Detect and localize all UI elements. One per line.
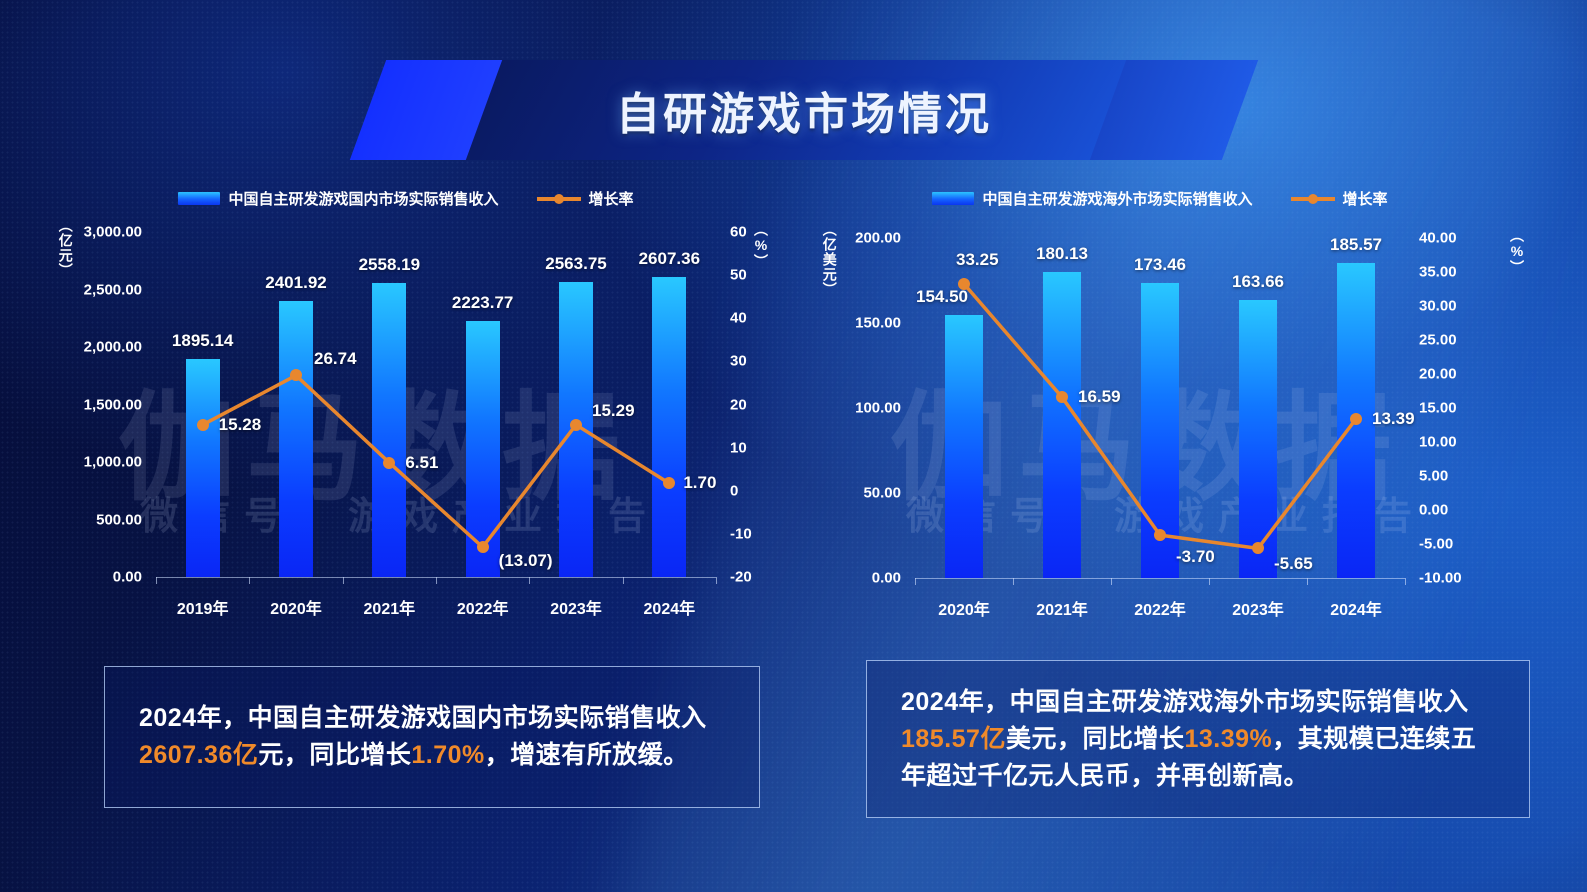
y-axis-tick-left: 2,500.00 (84, 281, 142, 298)
line-data-point[interactable] (197, 419, 209, 431)
line-data-point[interactable] (958, 278, 970, 290)
chart-panel-domestic: 中国自主研发游戏国内市场实际销售收入 增长率 （亿元） （%） 0.00500.… (46, 180, 766, 650)
line-value-label: 33.25 (956, 250, 999, 270)
line-value-label: 16.59 (1078, 387, 1121, 407)
x-axis-tickmark (249, 577, 250, 584)
y-axis-tick-left: 0.00 (872, 570, 901, 587)
y-axis-tick-right: 35.00 (1419, 264, 1457, 281)
legend-item-bar[interactable]: 中国自主研发游戏海外市场实际销售收入 (932, 188, 1252, 209)
x-axis-tick: 2023年 (550, 595, 602, 619)
line-data-point[interactable] (570, 419, 582, 431)
line-value-label: 26.74 (314, 349, 357, 369)
line-data-point[interactable] (1252, 542, 1264, 554)
summary-text: ，增速有所放缓。 (485, 741, 689, 769)
y-axis-tick-left: 200.00 (855, 230, 901, 247)
x-axis-tickmark (716, 577, 717, 584)
x-axis-tick: 2024年 (1330, 596, 1382, 620)
x-axis-tickmark (623, 577, 624, 584)
summary-line: 年超过千亿元人民币，并再创新高。 (901, 758, 1495, 795)
y-axis-tick-right: 20.00 (1419, 366, 1457, 383)
x-axis-tick: 2020年 (938, 596, 990, 620)
summary-highlight: 13.39% (1184, 725, 1272, 753)
legend-item-bar[interactable]: 中国自主研发游戏国内市场实际销售收入 (178, 188, 498, 209)
line-value-label: (13.07) (499, 551, 553, 571)
y-axis-tick-left: 150.00 (855, 315, 901, 332)
line-value-label: -3.70 (1176, 547, 1215, 567)
summary-text: 美元，同比增长 (1006, 725, 1185, 753)
y-axis-unit-right-overseas: （%） (1509, 228, 1524, 275)
line-data-point[interactable] (477, 541, 489, 553)
y-axis-tick-right: 10 (730, 439, 747, 456)
y-axis-tick-right: 40.00 (1419, 230, 1457, 247)
y-axis-tick-right: -10.00 (1419, 570, 1462, 587)
summary-highlight: 1.70% (411, 741, 484, 769)
y-axis-tick-right: 60 (730, 224, 747, 241)
x-axis-tickmark (156, 577, 157, 584)
summary-text: 元，同比增长 (258, 741, 411, 769)
x-axis-tickmark (1405, 578, 1406, 585)
title-banner: 自研游戏市场情况 (368, 60, 1240, 160)
y-axis-tick-right: -20 (730, 569, 752, 586)
y-axis-unit-right-domestic: （%） (753, 222, 768, 269)
y-axis-tick-left: 50.00 (863, 485, 901, 502)
line-swatch-icon (537, 193, 581, 205)
plot-area-domestic: 0.00500.001,000.001,500.002,000.002,500.… (156, 232, 716, 577)
y-axis-tick-left: 1,000.00 (84, 454, 142, 471)
line-data-point[interactable] (290, 369, 302, 381)
y-axis-tick-right: 0.00 (1419, 502, 1448, 519)
line-value-label: 15.28 (219, 415, 262, 435)
y-axis-tick-right: 40 (730, 310, 747, 327)
summary-line: 185.57亿美元，同比增长13.39%，其规模已连续五 (901, 721, 1495, 758)
legend-item-line[interactable]: 增长率 (537, 188, 634, 209)
plot-area-overseas: 0.0050.00100.00150.00200.00-10.00-5.000.… (915, 238, 1405, 578)
page-title: 自研游戏市场情况 (368, 60, 1240, 160)
y-axis-unit-left-domestic: （亿元） (58, 218, 73, 278)
legend-domestic: 中国自主研发游戏国内市场实际销售收入 增长率 (46, 188, 766, 209)
line-value-label: 1.70 (683, 473, 716, 493)
x-axis-line (915, 578, 1405, 579)
legend-item-line[interactable]: 增长率 (1291, 188, 1388, 209)
summary-text: 年超过千亿元人民币，并再创新高。 (901, 762, 1309, 790)
line-swatch-icon (1291, 193, 1335, 205)
x-axis-tick: 2023年 (1232, 596, 1284, 620)
y-axis-tick-right: 15.00 (1419, 400, 1457, 417)
line-value-label: 13.39 (1372, 409, 1415, 429)
bar-swatch-icon (932, 192, 974, 205)
x-axis-tick: 2020年 (270, 595, 322, 619)
legend-label-bar: 中国自主研发游戏国内市场实际销售收入 (228, 188, 498, 209)
legend-label-line: 增长率 (589, 188, 634, 209)
line-value-label: 15.29 (592, 401, 635, 421)
y-axis-tick-right: 0 (730, 482, 738, 499)
summary-line: 2024年，中国自主研发游戏海外市场实际销售收入 (901, 684, 1495, 721)
x-axis-tick: 2022年 (457, 595, 509, 619)
summary-text: ，其规模已连续五 (1272, 725, 1476, 753)
y-axis-tick-right: 50 (730, 267, 747, 284)
bar-swatch-icon (178, 192, 220, 205)
line-data-point[interactable] (1056, 391, 1068, 403)
legend-label-bar: 中国自主研发游戏海外市场实际销售收入 (982, 188, 1252, 209)
x-axis-tick: 2019年 (177, 595, 229, 619)
y-axis-tick-right: 30 (730, 353, 747, 370)
y-axis-tick-left: 500.00 (96, 511, 142, 528)
y-axis-tick-right: -10 (730, 525, 752, 542)
summary-line: 2607.36亿元，同比增长1.70%，增速有所放缓。 (139, 737, 725, 774)
x-axis-tick: 2021年 (364, 595, 416, 619)
legend-label-line: 增长率 (1343, 188, 1388, 209)
y-axis-tick-right: 5.00 (1419, 468, 1448, 485)
y-axis-tick-right: 25.00 (1419, 332, 1457, 349)
x-axis-tickmark (529, 577, 530, 584)
x-axis-tick: 2022年 (1134, 596, 1186, 620)
y-axis-tick-right: -5.00 (1419, 536, 1453, 553)
growth-rate-line (915, 238, 1405, 578)
line-data-point[interactable] (1154, 529, 1166, 541)
x-axis-tick: 2024年 (644, 595, 696, 619)
y-axis-tick-right: 10.00 (1419, 434, 1457, 451)
summary-line: 2024年，中国自主研发游戏国内市场实际销售收入 (139, 700, 725, 737)
line-data-point[interactable] (663, 477, 675, 489)
line-value-label: -5.65 (1274, 554, 1313, 574)
summary-text: 2024年，中国自主研发游戏海外市场实际销售收入 (901, 688, 1469, 716)
x-axis-tickmark (1111, 578, 1112, 585)
y-axis-tick-right: 20 (730, 396, 747, 413)
y-axis-tick-right: 30.00 (1419, 298, 1457, 315)
x-axis-tickmark (436, 577, 437, 584)
y-axis-tick-left: 0.00 (113, 569, 142, 586)
line-data-point[interactable] (383, 457, 395, 469)
summary-box-overseas: 2024年，中国自主研发游戏海外市场实际销售收入185.57亿美元，同比增长13… (866, 660, 1530, 818)
x-axis-tickmark (1013, 578, 1014, 585)
line-value-label: 6.51 (405, 453, 438, 473)
y-axis-tick-left: 2,000.00 (84, 339, 142, 356)
x-axis-tickmark (1307, 578, 1308, 585)
x-axis-tickmark (1209, 578, 1210, 585)
x-axis-tick: 2021年 (1036, 596, 1088, 620)
y-axis-unit-left-overseas: （亿美元） (822, 222, 837, 297)
chart-panel-overseas: 中国自主研发游戏海外市场实际销售收入 增长率 （亿美元） （%） 0.0050.… (800, 180, 1520, 650)
legend-overseas: 中国自主研发游戏海外市场实际销售收入 增长率 (800, 188, 1520, 209)
line-data-point[interactable] (1350, 413, 1362, 425)
summary-highlight: 2607.36亿 (139, 741, 258, 769)
x-axis-tickmark (915, 578, 916, 585)
x-axis-tickmark (343, 577, 344, 584)
y-axis-tick-left: 100.00 (855, 400, 901, 417)
summary-highlight: 185.57亿 (901, 725, 1006, 753)
summary-box-domestic: 2024年，中国自主研发游戏国内市场实际销售收入2607.36亿元，同比增长1.… (104, 666, 760, 808)
y-axis-tick-left: 3,000.00 (84, 224, 142, 241)
y-axis-tick-left: 1,500.00 (84, 396, 142, 413)
summary-text: 2024年，中国自主研发游戏国内市场实际销售收入 (139, 704, 707, 732)
